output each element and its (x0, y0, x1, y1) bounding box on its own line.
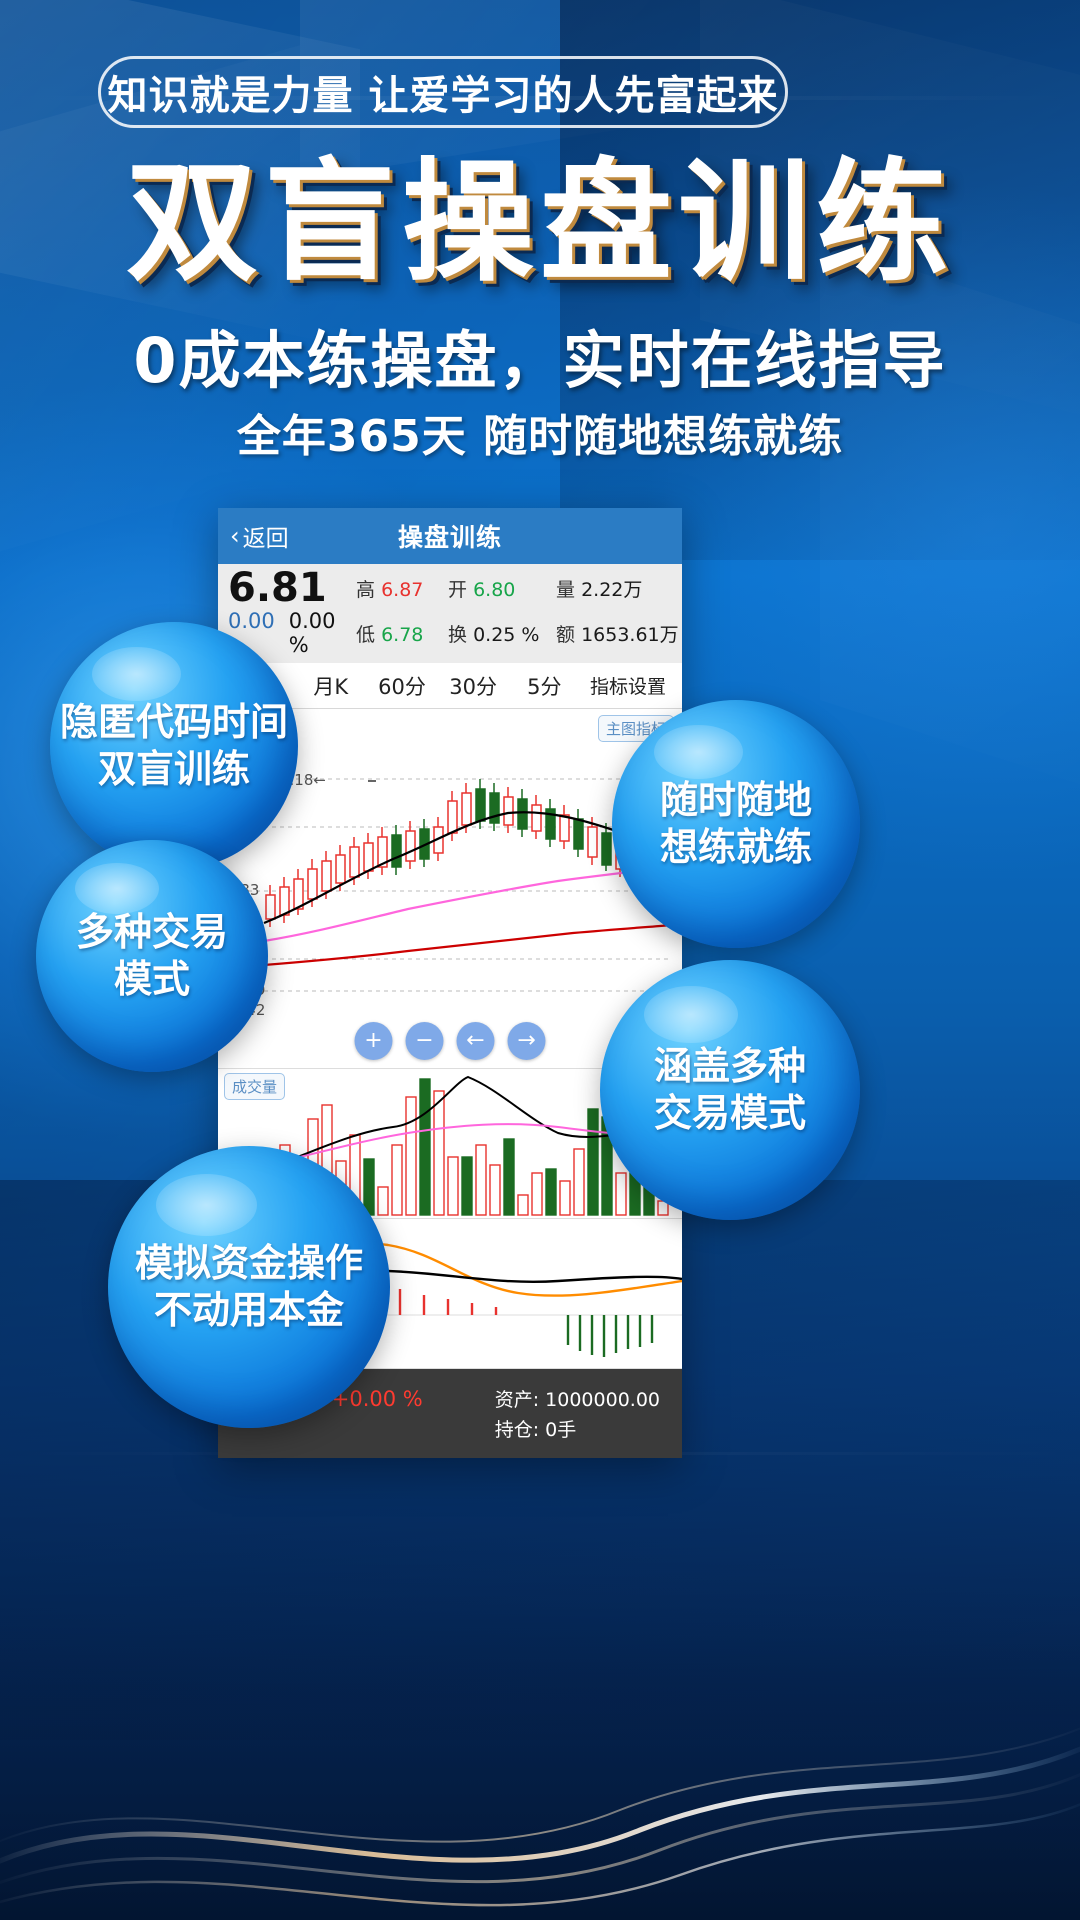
bubble-line-2: 双盲训练 (60, 746, 288, 794)
tab-30min[interactable]: 30分 (438, 671, 509, 701)
bubble-line-1: 多种交易 (76, 909, 228, 957)
tab-indicator-settings[interactable]: 指标设置 (580, 672, 676, 699)
last-price: 6.81 (228, 568, 356, 608)
bubble-line-2: 想练就练 (660, 824, 812, 872)
subtitle: 0成本练操盘，实时在线指导 (0, 310, 1080, 400)
account-summary: 资产: 1000000.00 持仓: 0手 (495, 1385, 660, 1446)
bubble-line-1: 随时随地 (660, 777, 812, 825)
bubble-line-1: 涵盖多种 (654, 1043, 806, 1091)
quote-high: 高 6.87 (356, 575, 448, 602)
quote-amount-value: 1653.61万 (581, 624, 679, 646)
asset-value: 资产: 1000000.00 (495, 1385, 660, 1415)
change-pct: 0.00 % (289, 609, 356, 657)
bubble-line-1: 模拟资金操作 (135, 1240, 363, 1288)
quote-open: 开 6.80 (448, 575, 556, 602)
session-pnl-value: +0.00 % (332, 1387, 423, 1411)
tab-month-k[interactable]: 月K (295, 671, 366, 701)
bg-light-ribbons (0, 1620, 1080, 1920)
volume-badge[interactable]: 成交量 (224, 1073, 285, 1100)
quote-amount: 额 1653.61万 (556, 620, 679, 647)
bubble-line-1: 隐匿代码时间 (60, 699, 288, 747)
quote-volume-value: 2.22万 (581, 579, 642, 601)
tagline-text: 知识就是力量 让爱学习的人先富起来 (108, 63, 779, 121)
tab-60min[interactable]: 60分 (366, 671, 437, 701)
bubble-line-2: 交易模式 (654, 1090, 806, 1138)
chart-nav-buttons: + − ← → (355, 1022, 546, 1060)
bubble-line-2: 不动用本金 (135, 1287, 363, 1335)
feature-bubble-virtual-funds: 模拟资金操作 不动用本金 (108, 1146, 390, 1428)
zoom-out-button[interactable]: − (406, 1022, 444, 1060)
quote-low: 低 6.78 (356, 620, 448, 647)
app-navbar: ‹ 返回 操盘训练 (218, 508, 682, 564)
quote-open-value: 6.80 (473, 579, 515, 601)
quote-turnover-value: 0.25 % (473, 624, 539, 646)
bubble-line-2: 模式 (76, 956, 228, 1004)
quote-turnover: 换 0.25 % (448, 620, 556, 647)
quote-low-value: 6.78 (381, 624, 423, 646)
pan-left-button[interactable]: ← (457, 1022, 495, 1060)
back-button[interactable]: ‹ 返回 (230, 508, 289, 564)
position-value: 持仓: 0手 (495, 1415, 660, 1445)
back-button-label: 返回 (243, 519, 289, 553)
feature-bubble-coverage: 涵盖多种 交易模式 (600, 960, 860, 1220)
feature-bubble-anytime: 随时随地 想练就练 (612, 700, 860, 948)
tab-5min[interactable]: 5分 (509, 671, 580, 701)
subtitle-secondary: 全年365天 随时随地想练就练 (0, 400, 1080, 464)
feature-bubble-blind-training: 隐匿代码时间 双盲训练 (50, 622, 298, 870)
chevron-left-icon: ‹ (230, 522, 240, 550)
page-title: 双盲操盘训练 (0, 150, 1080, 298)
quote-high-value: 6.87 (381, 579, 423, 601)
feature-bubble-modes: 多种交易 模式 (36, 840, 268, 1072)
quote-panel: 6.81 高 6.87 开 6.80 量 2.22万 0.00 0.00 % 低… (218, 564, 682, 663)
quote-volume: 量 2.22万 (556, 575, 679, 602)
tagline-pill: 知识就是力量 让爱学习的人先富起来 (98, 56, 788, 128)
pan-right-button[interactable]: → (508, 1022, 546, 1060)
zoom-in-button[interactable]: + (355, 1022, 393, 1060)
